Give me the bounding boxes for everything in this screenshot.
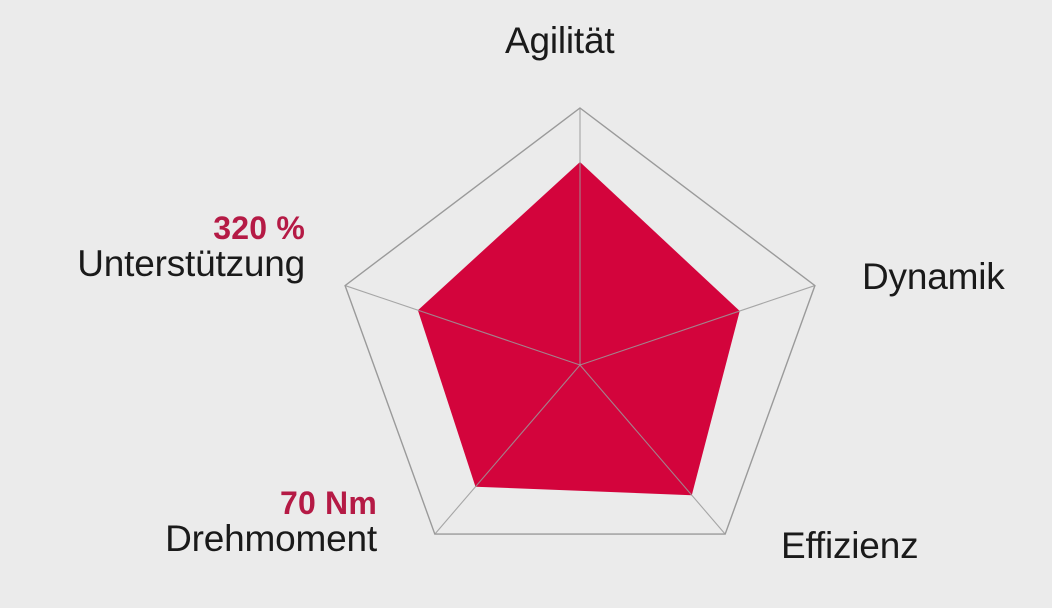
axis-label-unterstuetzung: Unterstützung — [8, 245, 305, 283]
axis-label-drehmoment: Drehmoment — [70, 520, 377, 558]
axis-label-dynamik: Dynamik — [862, 258, 1005, 297]
radar-data-polygon — [418, 162, 740, 495]
axis-label-effizienz: Effizienz — [781, 527, 918, 566]
axis-label-unterstuetzung-group: 320 % Unterstützung — [8, 212, 305, 282]
axis-label-agilitaet: Agilität — [505, 22, 614, 61]
axis-label-drehmoment-group: 70 Nm Drehmoment — [70, 487, 377, 557]
radar-chart-figure: Agilität Dynamik Effizienz 320 % Unterst… — [0, 0, 1052, 608]
value-unterstuetzung: 320 % — [8, 212, 305, 245]
value-drehmoment: 70 Nm — [70, 487, 377, 520]
